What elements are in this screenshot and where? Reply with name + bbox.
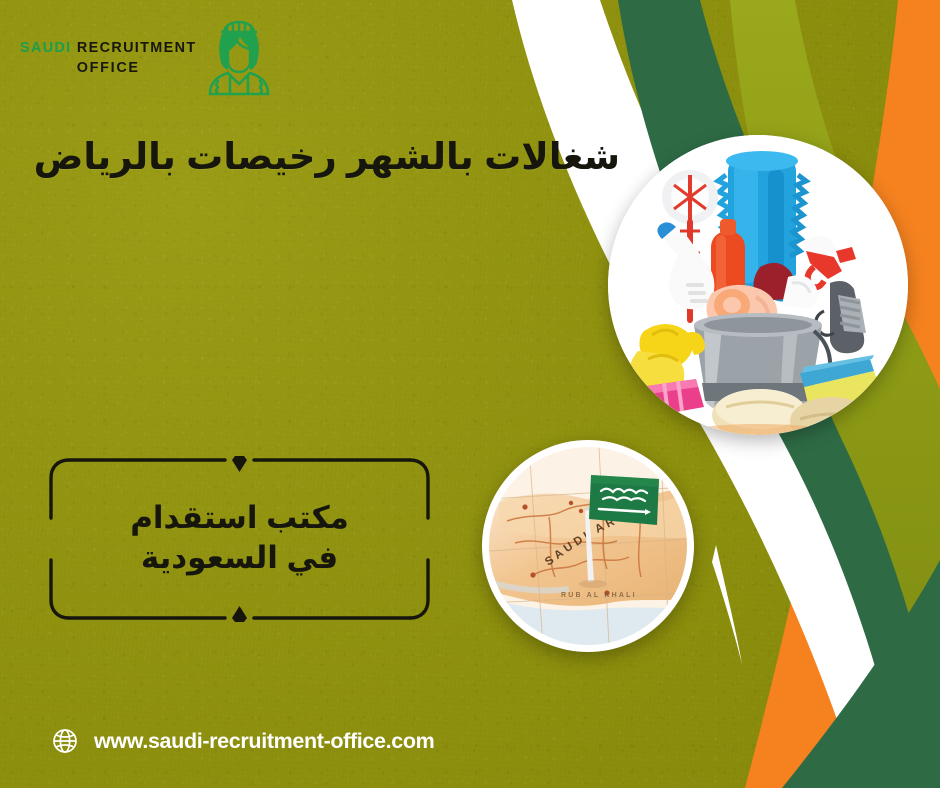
cleaning-supplies-illustration <box>608 135 908 435</box>
cleaning-supplies-photo <box>608 135 908 435</box>
brand-logo[interactable]: SAUDI RECRUITMENT OFFICE <box>20 14 278 98</box>
saudi-arabia-map-photo: SAUDI ARABIA RUB AL KHALI <box>482 440 694 652</box>
logo-word-recruitment: RECRUITMENT <box>77 40 197 56</box>
white-sliver-ribbon <box>712 545 742 664</box>
badge-frame-box: مكتب استقدام في السعودية <box>47 456 432 622</box>
footer-website[interactable]: www.saudi-recruitment-office.com <box>52 728 434 754</box>
logo-word-saudi: SAUDI <box>20 40 72 56</box>
badge-line-1: مكتب استقدام <box>130 498 349 538</box>
logo-word-office: OFFICE <box>20 60 196 77</box>
page-title: شغالات بالشهر رخيصات بالرياض <box>20 134 620 179</box>
logo-wordmark: SAUDI RECRUITMENT OFFICE <box>20 36 196 76</box>
maid-woman-icon <box>200 14 278 98</box>
globe-icon <box>52 728 78 754</box>
badge-label: مكتب استقدام في السعودية <box>47 456 432 622</box>
map-sublabel: RUB AL KHALI <box>561 592 637 599</box>
poster-canvas: SAUDI RECRUITMENT OFFICE <box>0 0 940 788</box>
website-url: www.saudi-recruitment-office.com <box>94 729 434 754</box>
saudi-map-illustration: SAUDI ARABIA RUB AL KHALI <box>489 447 687 645</box>
maid-hair <box>220 32 260 70</box>
badge-line-2: في السعودية <box>141 538 338 578</box>
